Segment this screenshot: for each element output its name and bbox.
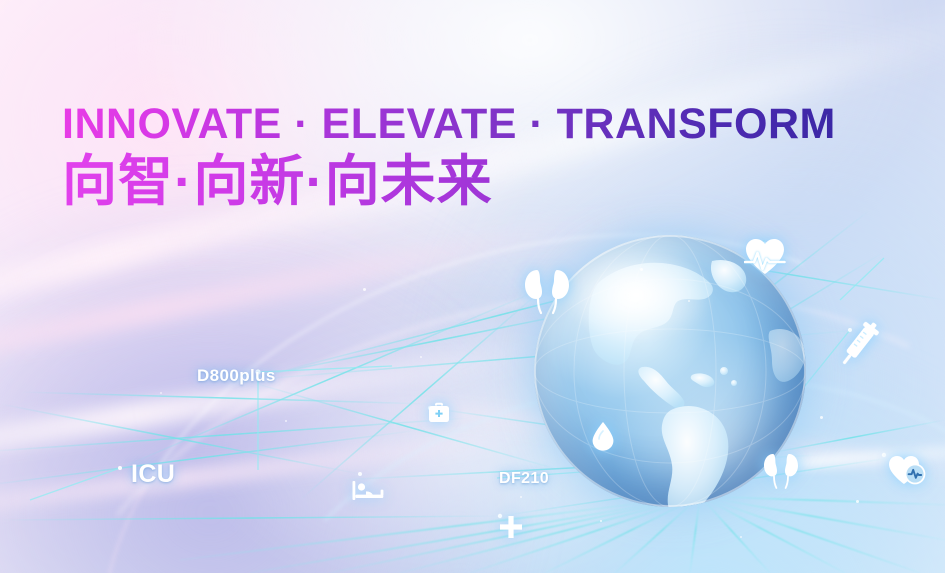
tech-label-icu: ICU [131, 460, 175, 489]
sparkle-dot [856, 500, 859, 503]
heart-pulse-icon [744, 237, 786, 275]
subheadline-text: 向智·向新·向未来 [62, 151, 836, 213]
kidneys-icon [761, 452, 801, 490]
hospital-bed-icon [352, 479, 384, 501]
sparkle-dot [820, 416, 823, 419]
sparkle-dot [363, 288, 366, 291]
heart-monitor-icon [888, 452, 926, 486]
tech-label-df210: DF210 [499, 470, 549, 488]
sparkle-dot [520, 496, 522, 498]
syringe-icon [834, 317, 883, 372]
sparkle-dot [285, 420, 287, 422]
medical-kit-icon [428, 402, 450, 423]
medical-cross-icon [500, 516, 522, 538]
sparkle-dot [420, 356, 422, 358]
glow-lavender-middle [0, 180, 560, 573]
sparkle-dot [160, 392, 162, 394]
tech-label-d800plus: D800plus [197, 366, 276, 386]
glow-periwinkle-bottom-left [0, 243, 540, 573]
sparkle-dot [740, 536, 742, 538]
headline-block: INNOVATE · ELEVATE · TRANSFORM 向智·向新·向未来 [62, 100, 836, 213]
headline-text: INNOVATE · ELEVATE · TRANSFORM [62, 100, 836, 149]
blood-drop-icon [591, 421, 615, 451]
kidneys-icon [521, 266, 573, 316]
sparkle-dot [600, 520, 602, 522]
light-streak-3 [0, 336, 557, 490]
light-streak-4 [0, 424, 558, 534]
marketing-banner: D800plus ICU DF210 INNOVATE · ELEVATE · … [0, 0, 945, 573]
